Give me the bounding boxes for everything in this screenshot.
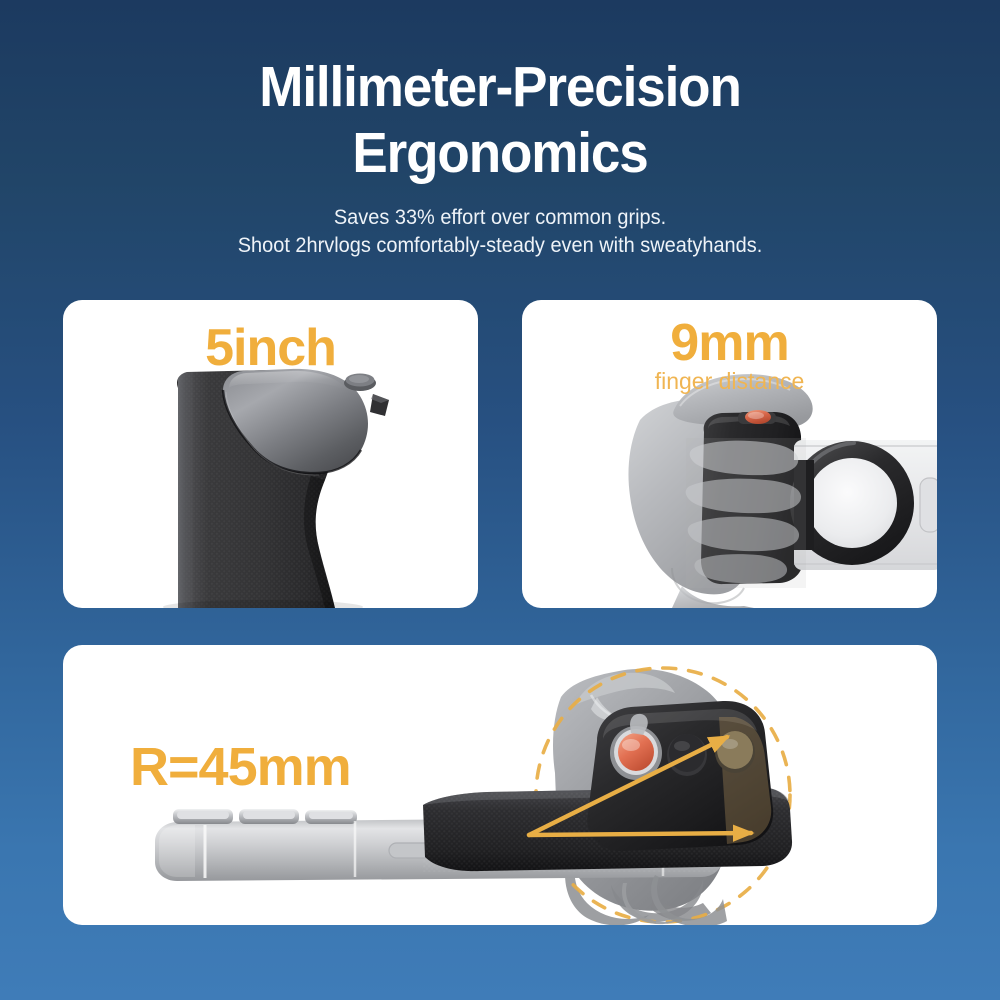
hand-gripping-device-xray-illustration: NISI (522, 300, 937, 608)
subtitle-line2: Shoot 2hrvlogs comfortably-steady even w… (25, 232, 975, 260)
header: Millimeter-Precision Ergonomics Saves 33… (0, 54, 1000, 260)
camera-grip-side-profile-illustration (63, 300, 478, 608)
card-grip-length: 5inch (63, 300, 478, 608)
card-grip-radius (63, 645, 937, 925)
card-finger-distance: 9mm finger distance (522, 300, 937, 608)
phone-camera-bumps (173, 809, 357, 824)
subtitle-line1: Saves 33% effort over common grips. (25, 204, 975, 232)
shutter-button[interactable] (738, 410, 776, 424)
page-title-line2: Ergonomics (35, 120, 965, 186)
grip-dial-button[interactable] (344, 374, 376, 392)
grip-side-nub (370, 394, 389, 416)
subtitle-block: Saves 33% effort over common grips. Shoo… (0, 204, 1000, 260)
page-title-line1: Millimeter-Precision (35, 54, 965, 120)
magnetic-ring (790, 441, 914, 565)
phone-with-grip-radius-illustration (63, 645, 937, 925)
infographic-page: Millimeter-Precision Ergonomics Saves 33… (0, 0, 1000, 1000)
grip-head-block (587, 701, 773, 851)
